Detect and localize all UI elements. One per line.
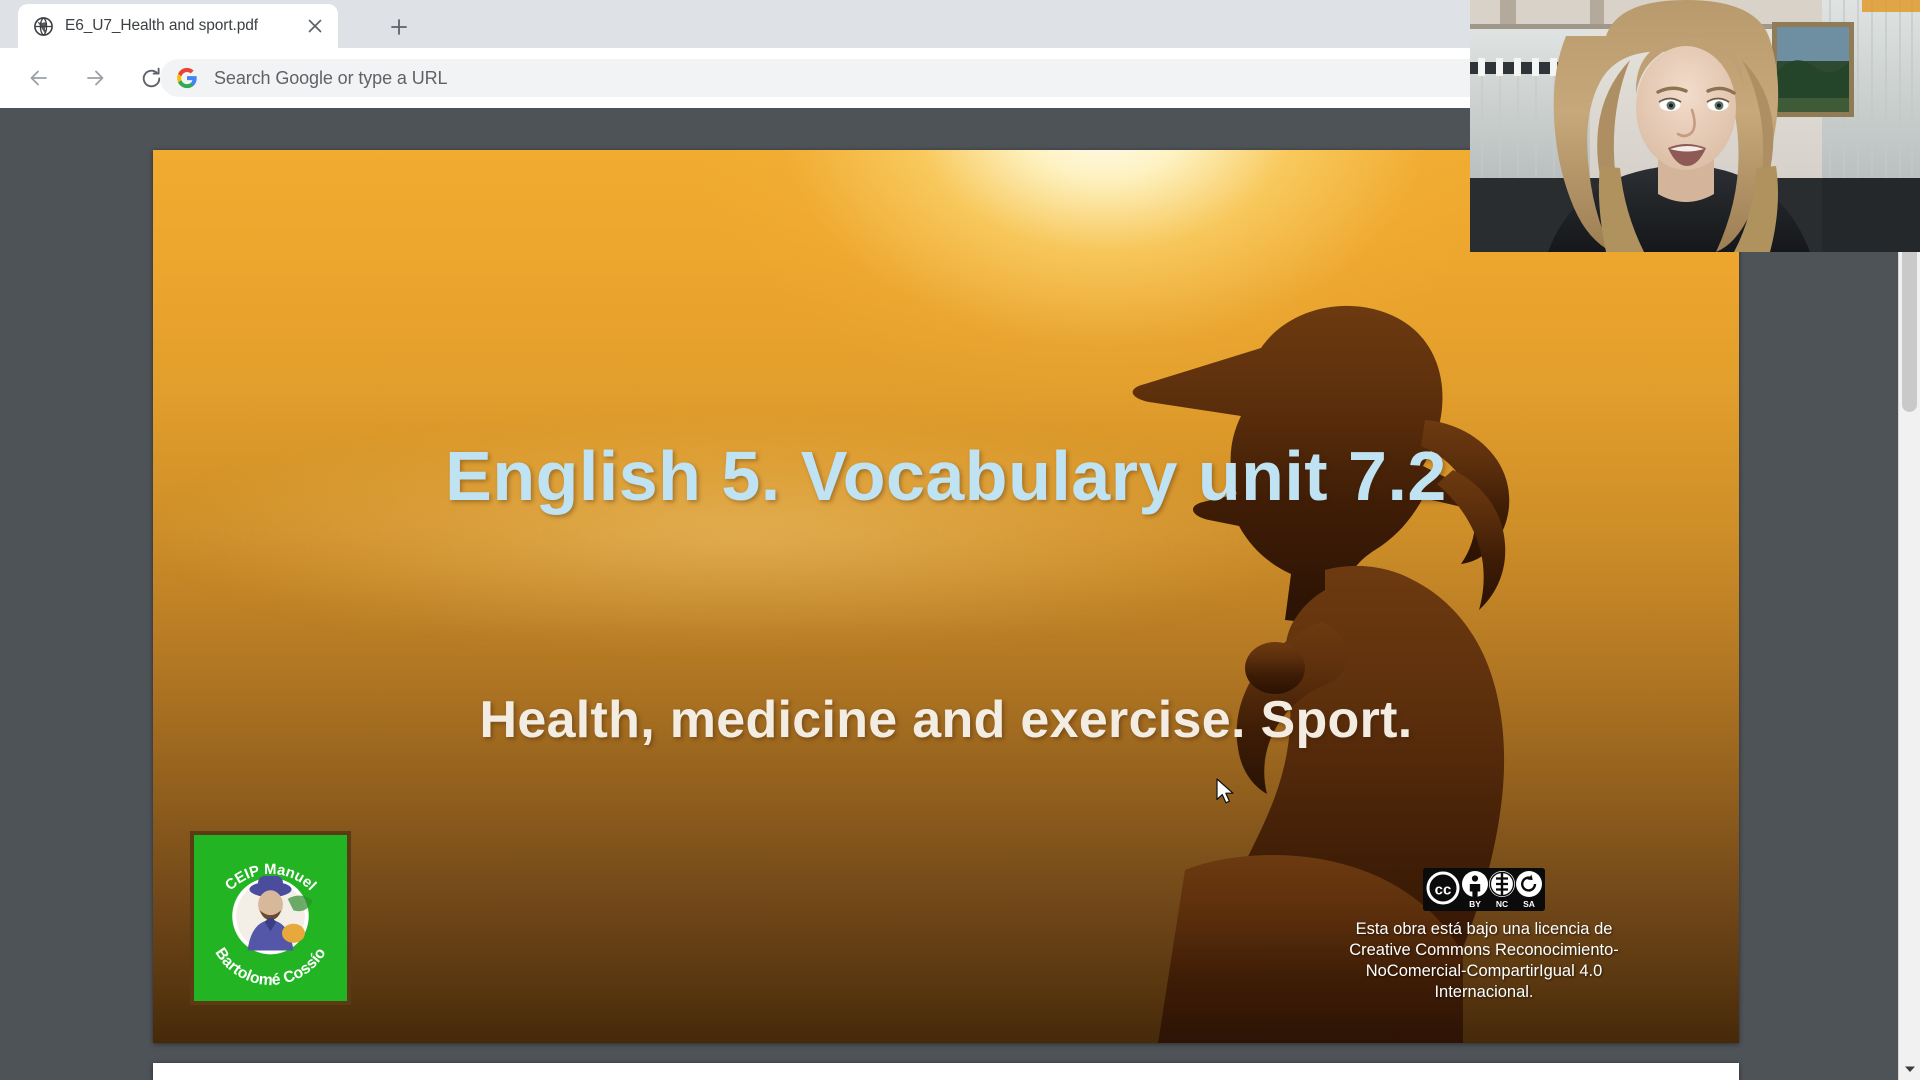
google-g-icon [176, 67, 198, 89]
creative-commons-license: cc BY NC SA Esta obra está bajo una l [1329, 868, 1639, 1003]
license-text: Esta obra está bajo una licencia de Crea… [1329, 919, 1639, 1003]
cc-by-nc-sa-badge: cc BY NC SA [1423, 868, 1545, 911]
school-logo: CEIP Manuel Bartolomé Cossío [190, 831, 351, 1005]
svg-text:cc: cc [1435, 881, 1452, 898]
license-line-2: Creative Commons Reconocimiento- [1329, 940, 1639, 961]
svg-text:NC: NC [1496, 899, 1508, 909]
globe-icon [34, 17, 53, 36]
tab-title: E6_U7_Health and sport.pdf [65, 17, 296, 35]
slide-title: English 5. Vocabulary unit 7.2 [153, 436, 1739, 516]
license-line-4: Internacional. [1329, 982, 1639, 1003]
svg-text:SA: SA [1523, 899, 1535, 909]
license-line-1: Esta obra está bajo una licencia de [1329, 919, 1639, 940]
back-arrow-icon[interactable] [18, 57, 60, 99]
new-tab-button[interactable] [382, 10, 416, 44]
close-icon[interactable] [302, 13, 328, 39]
address-bar-placeholder: Search Google or type a URL [214, 68, 447, 89]
vertical-scrollbar[interactable] [1898, 108, 1920, 1080]
chevron-down-icon[interactable] [1899, 1058, 1920, 1080]
pdf-page-next [153, 1063, 1739, 1080]
license-line-3: NoComercial-CompartirIgual 4.0 [1329, 961, 1639, 982]
pdf-page-slide: English 5. Vocabulary unit 7.2 Health, m… [153, 150, 1739, 1043]
svg-text:BY: BY [1469, 899, 1481, 909]
browser-tab[interactable]: E6_U7_Health and sport.pdf [18, 4, 338, 48]
school-logo-inner: CEIP Manuel Bartolomé Cossío [194, 835, 347, 1001]
slide-subtitle: Health, medicine and exercise. Sport. [153, 690, 1739, 750]
forward-arrow-icon[interactable] [74, 57, 116, 99]
pdf-viewer-area[interactable]: English 5. Vocabulary unit 7.2 Health, m… [0, 108, 1920, 1080]
presenter-webcam-feed[interactable] [1470, 0, 1920, 252]
